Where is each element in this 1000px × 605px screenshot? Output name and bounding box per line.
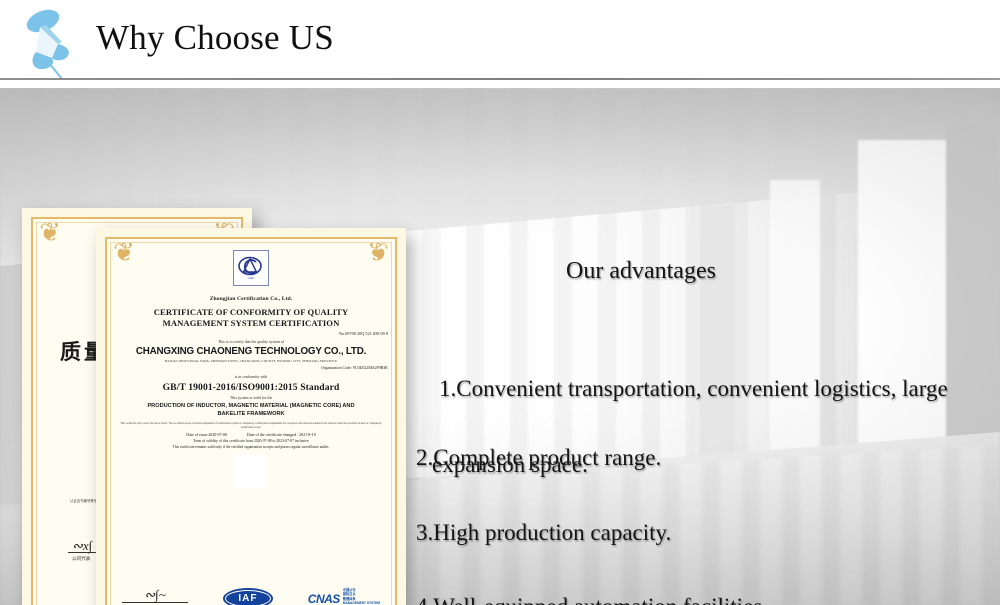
certificate-company: CHANGXING CHAONENG TECHNOLOGY CO., LTD. xyxy=(110,346,392,357)
certificate-issuer: Zhongjian Certification Co., Ltd. xyxy=(110,296,392,302)
signature-block: ∾∫~ Representative of The Company xyxy=(122,589,188,605)
organization-code: Organization Code: 91330522MA2F9B3K xyxy=(110,366,388,370)
accreditation-row: ∾∫~ Representative of The Company IAF CN… xyxy=(116,588,386,605)
advantage-item-4: 4.Well-equipped automation facilities. xyxy=(416,594,768,605)
advantages-heading: Our advantages xyxy=(566,258,716,285)
cqc-emblem-icon: CQC xyxy=(237,255,265,281)
iaf-logo-icon: IAF xyxy=(223,588,273,605)
certificate-scope-line2: BAKELITE FRAMEWORK xyxy=(116,410,386,418)
signature-mark: ∾∫~ xyxy=(122,589,188,601)
page-title: Why Choose US xyxy=(96,18,334,58)
certificate-english: ❦ ❦ ❦ ❦ CQC Zhongjian Certification Co.,… xyxy=(96,228,406,605)
certificate-address: BAITAN INDUSTRIAL PARK, MEISHAN TOWN, CH… xyxy=(110,359,392,363)
certificate-footer: ∾∫~ Representative of The Company IAF CN… xyxy=(116,588,386,605)
svg-text:CQC: CQC xyxy=(248,276,256,280)
signature-caption: 公司代表 xyxy=(72,556,90,562)
date-of-issue: Date of issue:2020-07-08 xyxy=(186,432,227,437)
certificate-content: CQC Zhongjian Certification Co., Ltd. CE… xyxy=(110,246,392,605)
certificate-note: This certificate only covers the above l… xyxy=(114,422,388,429)
certificate-term: Term of validity of this certificate fro… xyxy=(110,439,392,443)
iaf-label: IAF xyxy=(238,593,257,604)
advantage-item-2: 2.Complete product range. xyxy=(416,445,661,471)
cnas-label: CNAS xyxy=(308,592,340,605)
signature-line xyxy=(122,602,188,603)
valid-for-line: This system is valid for the xyxy=(110,396,392,400)
cqc-logo-icon: CQC xyxy=(233,250,269,286)
header-divider xyxy=(0,78,1000,80)
cnas-logo-icon: CNAS 中国认可 国际互认 管理体系 MANAGEMENT SYSTEM CN… xyxy=(308,588,380,605)
certify-line: This is to certify that the quality syst… xyxy=(110,340,392,344)
pushpin-icon xyxy=(16,6,82,82)
certificate-standard: GB/T 19001-2016/ISO9001:2015 Standard xyxy=(110,382,392,393)
advantage-item-1-line1: 1.Convenient transportation, convenient … xyxy=(439,376,948,401)
qr-code-icon xyxy=(234,454,268,488)
certificate-heading-line1: CERTIFICATE OF CONFORMITY OF QUALITY xyxy=(110,307,392,318)
advantage-item-3: 3.High production capacity. xyxy=(416,520,671,546)
hero-image-area: ❦ ❦ ❦ ❦ 质量 认证证书编号等信息 ∾x∫ 公司代表 质量管理 体系认证 … xyxy=(0,88,1000,605)
certificate-number: No.00700 20Q 521 658 09 8 xyxy=(110,331,388,336)
date-changed: Date of the certificate changed : 2021-8… xyxy=(247,432,316,437)
certificate-surveillance: This certificate remains valid only if t… xyxy=(110,445,392,449)
page-header: Why Choose US xyxy=(0,0,1000,88)
certificate-heading-line2: MANAGEMENT SYSTEM CERTIFICATION xyxy=(110,318,392,329)
certificate-scope-line1: PRODUCTION OF INDUCTOR, MAGNETIC MATERIA… xyxy=(116,402,386,410)
certificate-heading: CERTIFICATE OF CONFORMITY OF QUALITY MAN… xyxy=(110,307,392,329)
cnas-text-block: 中国认可 国际互认 管理体系 MANAGEMENT SYSTEM CNAS C0… xyxy=(343,588,380,605)
conformity-line: is in conformity with xyxy=(110,375,392,379)
certificate-dates: Date of issue:2020-07-08 Date of the cer… xyxy=(110,432,392,437)
certificate-scope: PRODUCTION OF INDUCTOR, MAGNETIC MATERIA… xyxy=(116,402,386,418)
